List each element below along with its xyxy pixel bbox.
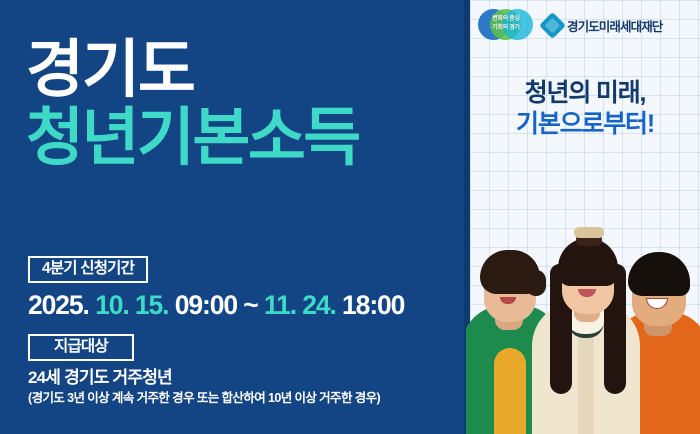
people-photo (466, 184, 700, 434)
person-left-eye-right (514, 281, 521, 284)
foundation-name: 경기도미래세대재단 (567, 16, 662, 35)
info-block: 4분기 신청기간 2025. 10. 15. 09:00 ~ 11. 24. 1… (28, 256, 448, 406)
main-title: 경기도 청년기본소득 (26, 38, 359, 171)
emblem-text-line2: 기회의 경기 (478, 24, 534, 33)
main-title-line-1: 경기도 (26, 38, 359, 102)
person-center-eye-left (570, 273, 578, 276)
date-start: 10. 15. (95, 290, 168, 320)
application-period-tag: 4분기 신청기간 (28, 256, 148, 283)
person-left-eye-left (492, 281, 499, 284)
person-right-eye-left (640, 284, 648, 287)
slogan-line-2: 기본으로부터! (470, 111, 700, 137)
gyeonggi-slogan-emblem-icon: 변화의 중심 기회의 경기 (478, 6, 534, 44)
payment-target-tag: 지급대상 (28, 334, 134, 361)
application-period-dates: 2025. 10. 15. 09:00 ~ 11. 24. 18:00 (28, 291, 448, 320)
person-center-cream-cardigan (532, 190, 640, 434)
logo-row: 변화의 중심 기회의 경기 경기도미래세대재단 (478, 4, 696, 46)
slogan-line-1: 청년의 미래, (470, 80, 700, 106)
person-center-scrunchie (574, 227, 604, 238)
person-left-inner-top (494, 348, 526, 434)
payment-target-sub: (경기도 3년 이상 계속 거주한 경우 또는 합산하여 10년 이상 거주한 … (28, 391, 448, 406)
promotional-banner: 변화의 중심 기회의 경기 경기도미래세대재단 청년의 미래, 기본으로부터! (0, 0, 700, 434)
slogan-headline: 청년의 미래, 기본으로부터! (470, 80, 700, 137)
date-year: 2025. (28, 290, 89, 320)
info-spacer (28, 320, 448, 334)
foundation-logo: 경기도미래세대재단 (543, 16, 662, 35)
payment-target-main: 24세 경기도 거주청년 (28, 368, 448, 388)
foundation-diamond-icon (539, 12, 566, 39)
time-start: 09:00 ~ (175, 290, 258, 320)
main-title-line-2: 청년기본소득 (26, 106, 359, 170)
person-center-eye-right (594, 273, 602, 276)
date-end: 11. 24. (264, 290, 336, 320)
emblem-text-line1: 변화의 중심 (478, 15, 534, 24)
person-right-eye-right (664, 284, 672, 287)
time-end: 18:00 (342, 290, 404, 320)
emblem-text: 변화의 중심 기회의 경기 (478, 15, 534, 32)
